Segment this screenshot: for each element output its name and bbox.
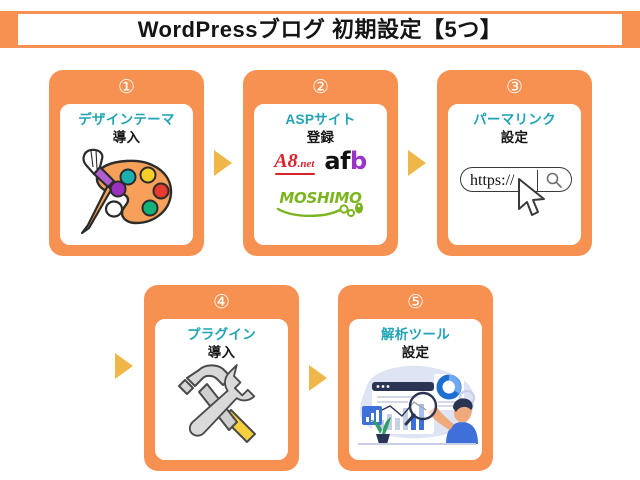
step-panel-4: プラグイン 導入: [154, 318, 289, 461]
step-label-sub-4: 導入: [208, 345, 236, 361]
step-label-sub-1: 導入: [113, 130, 141, 146]
afb-logo: afb: [324, 149, 366, 173]
step-art-5: [349, 360, 482, 460]
step-panel-2: ASPサイト 登録 A8.net afb MOSHIMO: [253, 103, 388, 246]
moshimo-logo: MOSHIMO: [254, 189, 387, 208]
step-label-main-5: 解析ツール: [381, 327, 450, 343]
step-art-1: [60, 145, 193, 245]
a8net-logo: A8.net: [274, 151, 314, 171]
step-panel-5: 解析ツール 設定: [348, 318, 483, 461]
step-label-sub-5: 設定: [402, 345, 430, 361]
analytics-illustration-icon: [350, 360, 483, 446]
paint-palette-icon: [78, 147, 178, 235]
step-art-2: A8.net afb MOSHIMO: [254, 145, 387, 245]
step-panel-1: デザインテーマ 導入: [59, 103, 194, 246]
step-number-4: ④: [144, 291, 299, 313]
title-inner-box: WordPressブログ 初期設定【5つ】: [18, 14, 622, 45]
arrow-step4-to-step5: [309, 365, 327, 391]
step-label-main-4: プラグイン: [187, 327, 256, 343]
arrow-step2-to-step3: [408, 150, 426, 176]
asp-logo-row: A8.net afb: [254, 149, 387, 173]
step-label-main-1: デザインテーマ: [78, 112, 175, 128]
step-card-4[interactable]: ④ プラグイン 導入: [144, 285, 299, 471]
step-card-2[interactable]: ② ASPサイト 登録 A8.net afb MOSHIMO: [243, 70, 398, 256]
step-card-1[interactable]: ① デザインテーマ 導入: [49, 70, 204, 256]
step-number-1: ①: [49, 76, 204, 98]
step-label-sub-3: 設定: [501, 130, 529, 146]
moshimo-swoosh-icon: [254, 199, 384, 217]
step-panel-3: パーマリンク 設定 https://: [447, 103, 582, 246]
step-label-main-2: ASPサイト: [285, 112, 355, 128]
step-card-3[interactable]: ③ パーマリンク 設定 https://: [437, 70, 592, 256]
mouse-cursor-icon: [516, 177, 550, 219]
step-card-5[interactable]: ⑤ 解析ツール 設定: [338, 285, 493, 471]
step-art-4: [155, 360, 288, 460]
step-art-3: https://: [448, 145, 581, 245]
step-label-sub-2: 登録: [307, 130, 335, 146]
arrow-step1-to-step2: [214, 150, 232, 176]
search-input-value: https://: [470, 170, 514, 191]
step-number-2: ②: [243, 76, 398, 98]
arrow-step3-to-step4: [115, 353, 133, 379]
infographic-page: WordPressブログ 初期設定【5つ】 ① デザインテーマ 導入: [0, 0, 640, 480]
hammer-wrench-icon: [173, 360, 273, 448]
title-bar: WordPressブログ 初期設定【5つ】: [0, 11, 640, 48]
url-search-bar[interactable]: https://: [460, 167, 572, 195]
page-title: WordPressブログ 初期設定【5つ】: [138, 19, 503, 41]
step-number-3: ③: [437, 76, 592, 98]
step-number-5: ⑤: [338, 291, 493, 313]
step-label-main-3: パーマリンク: [473, 112, 556, 128]
